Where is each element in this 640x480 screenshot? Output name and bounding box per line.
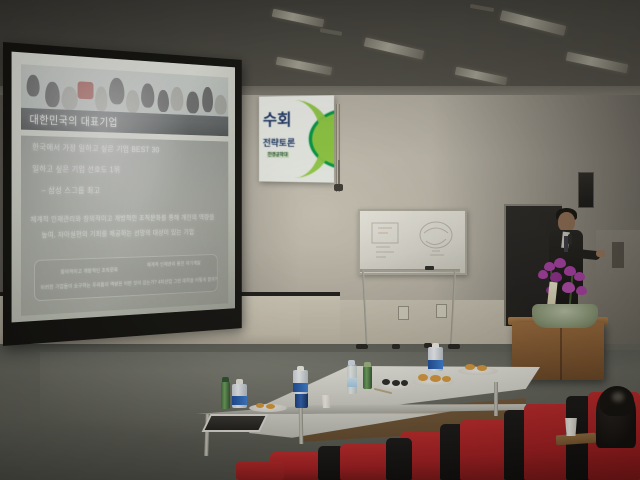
slide-callout-line-3: 이러한 기업들이 요구하는 우리들의 역량은 어떤 것이 있는가? 4차산업 그… <box>41 276 218 291</box>
whiteboard-sketch-right <box>414 217 460 261</box>
wall-outlet-2 <box>436 304 447 318</box>
slide-line-2: 일하고 싶은 기업 선호도 1위 <box>32 163 120 175</box>
slide-line-3: – 삼성 스그룹 최고 <box>41 185 100 196</box>
table-leg-mid <box>299 404 304 444</box>
green-bottle-center-cap <box>364 362 371 367</box>
mobile-whiteboard <box>358 209 467 275</box>
wall-outlet-1 <box>398 306 409 320</box>
fruit-2 <box>430 375 441 382</box>
snack-right-2 <box>477 365 487 371</box>
hanging-cable <box>338 160 340 186</box>
milk-carton-center-label <box>293 383 308 392</box>
slide-line-1: 한국에서 가장 일하고 싶은 기업 BEST 30 <box>32 142 159 155</box>
arrangement-basket <box>532 304 598 328</box>
chair-row1-2-trim <box>386 438 412 480</box>
banner-footnote: 한경공학대 <box>267 152 289 158</box>
event-banner: 수회 전략토론 한경공학대 <box>259 95 334 182</box>
table-leg-back-right <box>494 382 498 416</box>
milk-carton-right-cap <box>432 343 439 348</box>
fruit-1 <box>418 374 428 381</box>
slide-line-4: 체계적 인재관리와 창의적이고 개방적인 조직문화를 통해 개인의 역량을 <box>30 213 214 225</box>
attendee-highlight <box>612 392 624 402</box>
milk-carton-left-cap <box>236 379 243 384</box>
screen-surface: 대한민국의 대표기업 한국에서 가장 일하고 싶은 기업 BEST 30 일하고… <box>12 52 235 323</box>
dark-sweet-3 <box>401 380 408 386</box>
slide-line-5: 높여, 자아실현의 기회를 제공하는 선망의 대상이 있는 기업 <box>41 228 194 241</box>
presentation-slide: 대한민국의 대표기업 한국에서 가장 일하고 싶은 기업 BEST 30 일하고… <box>12 52 235 323</box>
conference-room-photo: 수회 전략토론 한경공학대 <box>0 0 640 480</box>
fruit-3 <box>442 376 451 382</box>
green-bottle-cap <box>222 377 229 382</box>
snack-item-2 <box>266 404 275 409</box>
slide-body: 한국에서 가장 일하고 싶은 기업 BEST 30 일하고 싶은 기업 선호도 … <box>21 136 228 316</box>
whiteboard-sketch-left <box>368 219 412 263</box>
whiteboard-caster-center <box>392 344 400 349</box>
green-bottle-center <box>363 365 372 389</box>
water-bottle-label <box>347 378 357 387</box>
snack-right-1 <box>465 364 475 370</box>
green-glass-bottle <box>221 381 230 409</box>
presenter-hand <box>596 250 605 257</box>
microphone-icon <box>568 234 572 245</box>
milk-carton-left-label <box>232 396 247 405</box>
dark-serving-tray <box>202 414 269 432</box>
banner-subheading: 전략토론 <box>263 136 295 149</box>
snack-item-1 <box>256 403 264 408</box>
slide-callout-line-2: 체계적 인재관리 통한 자기계발 <box>147 260 201 268</box>
whiteboard-foot-right <box>448 344 460 349</box>
cable-fixture <box>334 184 343 191</box>
podium-seam <box>560 322 562 380</box>
slide-callout-line-1: 창의적이고 개방적인 조직문화 <box>61 267 118 276</box>
water-bottle-cap <box>348 360 355 365</box>
slide-callout-box: 창의적이고 개방적인 조직문화 체계적 인재관리 통한 자기계발 이러한 기업들… <box>34 254 218 301</box>
wall-speaker-icon <box>578 172 594 208</box>
slide-title: 대한민국의 대표기업 <box>21 111 118 130</box>
presenter-head <box>558 212 575 232</box>
dark-sweet-1 <box>382 379 390 385</box>
milk-carton-right-label <box>428 360 443 369</box>
milk-carton-center-cap <box>297 366 304 371</box>
dark-sweet-2 <box>392 380 400 386</box>
whiteboard-foot-left <box>356 344 368 349</box>
wall-mounted-box <box>612 242 624 268</box>
banner-heading: 수회 <box>263 106 292 130</box>
wall-wainscot-right <box>300 300 530 344</box>
projection-screen: 대한민국의 대표기업 한국에서 가장 일하고 싶은 기업 BEST 30 일하고… <box>3 42 242 346</box>
chair-row1-seat <box>236 462 284 480</box>
